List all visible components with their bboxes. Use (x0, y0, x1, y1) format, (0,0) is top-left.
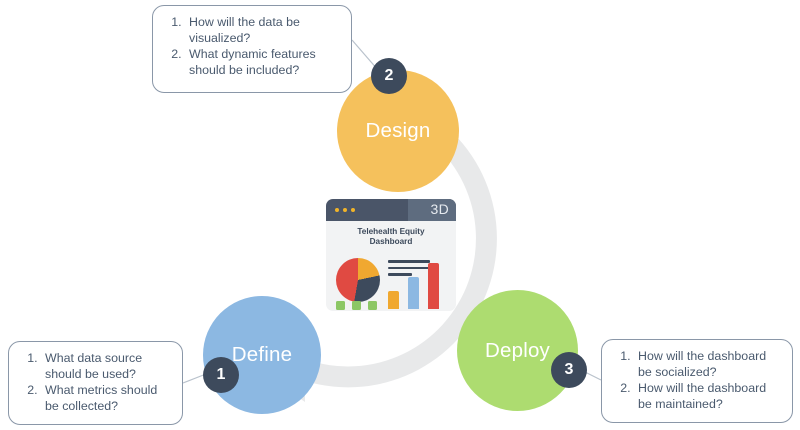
callout-define: What data source should be used? What me… (8, 341, 183, 425)
step-badge-design: 2 (371, 58, 407, 94)
step-badge-define: 1 (203, 357, 239, 393)
callout-design: How will the data be visualized? What dy… (152, 5, 352, 93)
dashboard-title: Telehealth Equity Dashboard (326, 227, 456, 247)
stage-label-define: Define (232, 343, 292, 367)
step-badge-number-3: 3 (565, 362, 574, 378)
callout-define-item-2: What metrics should be collected? (41, 383, 172, 414)
callout-design-item-2: What dynamic features should be included… (185, 47, 341, 78)
bar-chart-icon (388, 263, 446, 309)
dashboard-3d-badge: 3D (431, 201, 450, 217)
callout-deploy-list: How will the dashboard be socialized? Ho… (610, 349, 782, 412)
dashboard-title-line-1: Telehealth Equity (357, 227, 424, 236)
callout-define-item-1: What data source should be used? (41, 351, 172, 382)
legend-swatches-icon (336, 301, 377, 310)
stage-label-deploy: Deploy (485, 339, 550, 363)
stage-label-design: Design (365, 119, 430, 143)
dashboard-titlebar: 3D (326, 199, 456, 221)
connector-deploy (585, 372, 601, 380)
window-dots-icon (335, 208, 355, 212)
step-badge-number-2: 2 (385, 68, 394, 84)
callout-deploy-item-1: How will the dashboard be socialized? (634, 349, 782, 380)
dashboard-body (326, 251, 456, 311)
step-badge-number-1: 1 (217, 367, 226, 383)
callout-deploy-item-2: How will the dashboard be maintained? (634, 381, 782, 412)
step-badge-deploy: 3 (551, 352, 587, 388)
pie-chart-icon (336, 258, 380, 302)
stage-circle-define[interactable]: Define (203, 296, 321, 414)
callout-define-list: What data source should be used? What me… (17, 351, 172, 414)
callout-deploy: How will the dashboard be socialized? Ho… (601, 339, 793, 423)
dashboard-title-line-2: Dashboard (370, 237, 413, 246)
diagram-canvas: Design Define Deploy 2 1 3 How will the … (0, 0, 800, 430)
callout-design-item-1: How will the data be visualized? (185, 15, 341, 46)
callout-design-list: How will the data be visualized? What dy… (161, 15, 341, 78)
stage-circle-deploy[interactable]: Deploy (457, 290, 578, 411)
dashboard-illustration: 3D Telehealth Equity Dashboard (326, 199, 456, 311)
